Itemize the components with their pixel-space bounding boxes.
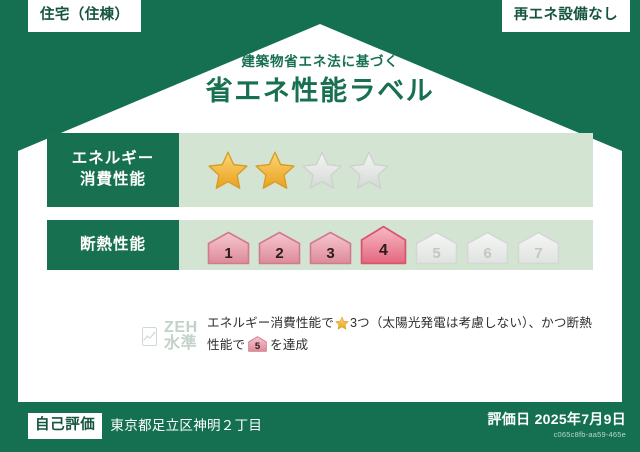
insulation-badge-2: 2 bbox=[258, 231, 301, 265]
insulation-performance-row: 断熱性能 1 bbox=[47, 220, 593, 270]
insulation-badge-6-number: 6 bbox=[466, 246, 509, 261]
energy-performance-row: エネルギー 消費性能 bbox=[47, 133, 593, 207]
energy-label-line-1: エネルギー bbox=[72, 149, 155, 170]
label-title-block: 建築物省エネ法に基づく 省エネ性能ラベル bbox=[0, 55, 640, 105]
zeh-mark: ZEH水準 bbox=[47, 312, 207, 352]
footer-right-group: 評価日 2025年7月9日 c065c8fb-aa59-465e bbox=[487, 411, 626, 440]
insulation-badge-7: 7 bbox=[517, 231, 560, 265]
insulation-badge-3: 3 bbox=[309, 231, 352, 265]
zeh-standard-section: ZEH水準 エネルギー消費性能で 3つ（太陽光発電は考慮しない）、かつ断熱性能で… bbox=[47, 312, 593, 356]
label-footer: 自己評価 東京都足立区神明２丁目 評価日 2025年7月9日 c065c8fb-… bbox=[0, 402, 640, 452]
star-empty-3-icon bbox=[301, 149, 343, 191]
evaluation-id: c065c8fb-aa59-465e bbox=[487, 430, 626, 441]
inline-insulation-badge: 5 bbox=[248, 336, 267, 352]
energy-performance-label: 住宅（住棟） 再エネ設備なし 建築物省エネ法に基づく 省エネ性能ラベル エネルギ… bbox=[0, 0, 640, 452]
energy-label-line-2: 消費性能 bbox=[80, 170, 146, 191]
title-subtitle: 建築物省エネ法に基づく bbox=[0, 55, 640, 69]
evaluation-date: 評価日 2025年7月9日 bbox=[487, 411, 626, 428]
inline-star-icon bbox=[335, 316, 349, 330]
energy-performance-label: エネルギー 消費性能 bbox=[47, 133, 179, 207]
star-filled-2-icon bbox=[254, 149, 296, 191]
renewable-energy-tag: 再エネ設備なし bbox=[502, 0, 630, 32]
property-address: 東京都足立区神明２丁目 bbox=[110, 419, 262, 433]
insulation-label-line-1: 断熱性能 bbox=[80, 235, 146, 256]
energy-performance-value bbox=[179, 133, 593, 207]
insulation-performance-value: 1 2 bbox=[179, 220, 593, 270]
zeh-description: エネルギー消費性能で 3つ（太陽光発電は考慮しない）、かつ断熱性能で 5 を達成 bbox=[207, 312, 593, 356]
insulation-badge-2-number: 2 bbox=[258, 246, 301, 261]
performance-rows: エネルギー 消費性能 bbox=[47, 133, 593, 283]
insulation-badge-6: 6 bbox=[466, 231, 509, 265]
zeh-label: ZEH水準 bbox=[164, 320, 207, 352]
zeh-desc-part-1: エネルギー消費性能で bbox=[207, 316, 334, 330]
self-evaluation-badge: 自己評価 bbox=[28, 413, 102, 439]
insulation-badge-3-number: 3 bbox=[309, 246, 352, 261]
insulation-badge-7-number: 7 bbox=[517, 246, 560, 261]
insulation-level-scale: 1 2 bbox=[207, 225, 560, 265]
star-filled-1-icon bbox=[207, 149, 249, 191]
insulation-badge-1: 1 bbox=[207, 231, 250, 265]
star-empty-4-icon bbox=[348, 149, 390, 191]
insulation-badge-4-number: 4 bbox=[360, 243, 407, 259]
insulation-badge-1-number: 1 bbox=[207, 246, 250, 261]
star-rating bbox=[207, 149, 390, 191]
inline-badge-number: 5 bbox=[248, 342, 267, 352]
insulation-performance-label: 断熱性能 bbox=[47, 220, 179, 270]
building-type-tag: 住宅（住棟） bbox=[28, 0, 141, 32]
zeh-chart-icon bbox=[142, 327, 157, 346]
page-title: 省エネ性能ラベル bbox=[0, 78, 640, 105]
footer-left-group: 自己評価 東京都足立区神明２丁目 bbox=[28, 413, 262, 439]
insulation-badge-5: 5 bbox=[415, 231, 458, 265]
insulation-badge-4-active: 4 bbox=[360, 225, 407, 265]
zeh-desc-part-3: を達成 bbox=[270, 338, 308, 352]
insulation-badge-5-number: 5 bbox=[415, 246, 458, 261]
